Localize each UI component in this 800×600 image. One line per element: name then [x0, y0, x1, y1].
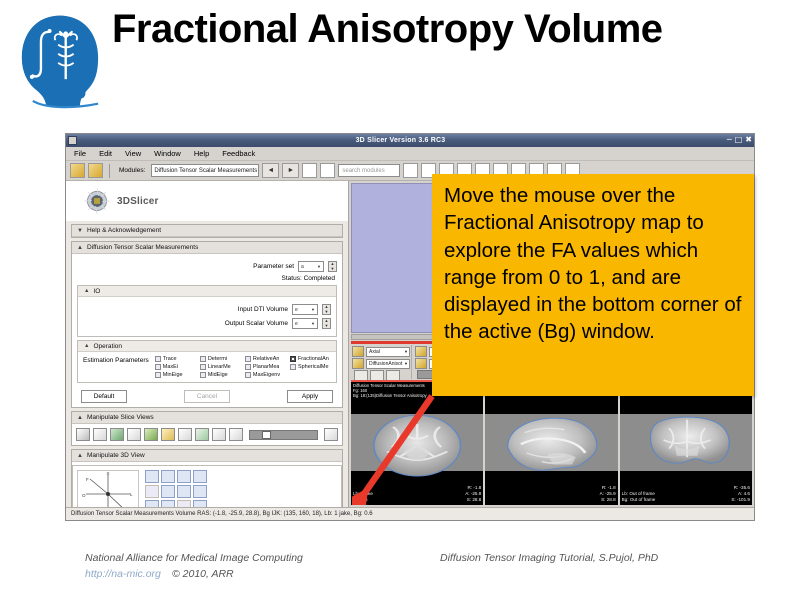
- system-menu-icon[interactable]: [68, 136, 77, 145]
- slice-background-layer-icon[interactable]: [352, 358, 364, 369]
- checkbox-label: MaxEigenv: [253, 372, 280, 378]
- parameter-set-value: a: [301, 264, 304, 270]
- slice-controller-left: Axial ▼ DiffusionAnisot ▼: [351, 345, 411, 379]
- checkbox-label: SphericalMe: [298, 364, 329, 370]
- menu-item-file[interactable]: File: [74, 149, 86, 158]
- apply-button[interactable]: Apply: [287, 390, 333, 403]
- checkbox-box-icon: [155, 372, 161, 378]
- parameter-set-selector[interactable]: a ▼: [298, 261, 324, 272]
- sagittal-overlay-bottom-right: R: -1.8 A: -25.9 S: 28.8: [600, 485, 616, 503]
- subpanel-operation: ▲ Operation Estimation Parameters Trace …: [77, 340, 337, 383]
- slice-compare-icon[interactable]: [195, 428, 209, 441]
- slice-orientation-value: Axial: [369, 349, 380, 355]
- module-selector-value: Diffusion Tensor Scalar Measurements: [154, 168, 257, 174]
- checkbox-linear-measure[interactable]: LinearMe: [200, 364, 241, 370]
- coronal-overlay-bottom-left: Lb: Out of frame Bg: Out of frame: [622, 491, 656, 503]
- slice-background-selector[interactable]: DiffusionAnisot ▼: [366, 359, 410, 369]
- axial-overlay-bottom-left: Lb: 1 jake Bg: 0.6: [353, 491, 373, 503]
- action-button-row: Default Cancel Apply: [77, 390, 337, 403]
- panel-manipulate-slice-views: ▲ Manipulate Slice Views: [71, 411, 343, 446]
- parameter-set-stepper[interactable]: ▲▼: [328, 261, 337, 272]
- input-dti-volume-row: Input DTI Volume e ▼ ▲▼: [83, 304, 331, 315]
- module-panel: 3DSlicer ▼ Help & Acknowledgement ▲ Diff…: [66, 181, 349, 507]
- chevron-down-icon: ▼: [317, 264, 323, 269]
- module-grid-icon[interactable]: [320, 163, 335, 178]
- menu-bar[interactable]: File Edit View Window Help Feedback: [66, 147, 754, 161]
- checkbox-box-icon: [245, 372, 251, 378]
- slicer-brand: 3DSlicer: [66, 181, 348, 221]
- panel-module-title: Diffusion Tensor Scalar Measurements: [87, 244, 198, 251]
- default-button[interactable]: Default: [81, 390, 127, 403]
- estimation-parameters-label: Estimation Parameters: [83, 356, 149, 364]
- subpanel-io-title: IO: [93, 288, 100, 295]
- rock-view-icon[interactable]: [177, 485, 191, 498]
- slider-thumb[interactable]: [262, 431, 271, 439]
- instruction-callout: Move the mouse over the Fractional Aniso…: [432, 174, 754, 396]
- cancel-button[interactable]: Cancel: [184, 390, 230, 403]
- chevron-up-icon: ▲: [77, 245, 83, 251]
- slice-layer-row-1: Axial ▼: [352, 346, 410, 357]
- checkbox-max-eigenvector[interactable]: MaxEigenv: [245, 372, 286, 378]
- panel-slice-views-header[interactable]: ▲ Manipulate Slice Views: [72, 412, 342, 424]
- sagittal-ras-s: S: 28.8: [600, 497, 616, 503]
- slice-label-opacity-icon[interactable]: [110, 428, 124, 441]
- panel-slice-views-title: Manipulate Slice Views: [87, 414, 154, 421]
- slice-foreground-icon[interactable]: [144, 428, 158, 441]
- orthographic-toggle-icon[interactable]: [177, 500, 191, 507]
- chevron-down-icon: ▼: [257, 168, 259, 174]
- menu-item-view[interactable]: View: [125, 149, 141, 158]
- checkbox-max-eigenvalue[interactable]: MaxEi: [155, 364, 196, 370]
- load-scene-icon[interactable]: [70, 163, 85, 178]
- checkbox-box-icon: [155, 356, 161, 362]
- chevron-down-icon: ▼: [311, 321, 317, 326]
- next-module-button[interactable]: ►: [282, 163, 299, 178]
- input-dti-volume-stepper[interactable]: ▲▼: [322, 304, 331, 315]
- chevron-down-icon: ▼: [404, 361, 409, 366]
- slide-canvas: Fractional Anisotropy Volume 3D Slicer V…: [0, 0, 800, 600]
- slide-footer: National Alliance for Medical Image Comp…: [0, 548, 800, 594]
- checkbox-relative-anisotropy[interactable]: RelativeAn: [245, 356, 286, 362]
- chevron-up-icon: ▲: [77, 415, 83, 421]
- menu-item-feedback[interactable]: Feedback: [222, 149, 255, 158]
- zoom-in-icon[interactable]: [193, 470, 207, 483]
- input-dti-volume-label: Input DTI Volume: [238, 306, 288, 313]
- chevron-down-icon: ▼: [404, 349, 409, 354]
- subpanel-operation-header[interactable]: ▲ Operation: [78, 341, 336, 352]
- subpanel-io: ▲ IO Input DTI Volume e ▼: [77, 285, 337, 337]
- toolbar-separator-1: [109, 164, 110, 178]
- slice-views-row: Diffusion Tensor Scalar Measurements Fg:…: [351, 380, 752, 505]
- volumes-module-icon[interactable]: [403, 163, 418, 178]
- estimation-checkbox-grid: Trace Determi RelativeAn FractionalAn Ma…: [155, 356, 331, 378]
- svg-text:F: F: [86, 477, 89, 482]
- maximize-icon[interactable]: □: [735, 135, 743, 144]
- checkbox-box-icon: [200, 356, 206, 362]
- checkbox-checked-icon: [290, 356, 296, 362]
- chevron-down-icon: ▼: [77, 228, 83, 234]
- checkbox-label: MidEige: [208, 372, 228, 378]
- parameter-set-label: Parameter set: [253, 263, 294, 270]
- slice-opacity-slider[interactable]: [249, 430, 318, 440]
- output-scalar-volume-stepper[interactable]: ▲▼: [322, 318, 331, 329]
- search-modules-input[interactable]: search modules: [338, 164, 400, 177]
- previous-module-button[interactable]: ◄: [262, 163, 279, 178]
- slice-fieldofview-icon[interactable]: [93, 428, 107, 441]
- output-scalar-volume-value: e: [295, 321, 298, 327]
- zoom-out-icon[interactable]: [161, 500, 175, 507]
- checkbox-planar-measure[interactable]: PlanarMea: [245, 364, 286, 370]
- panel-module-content: Parameter set a ▼ ▲▼ Status: Completed: [72, 254, 342, 407]
- checkbox-box-icon: [155, 364, 161, 370]
- checkbox-trace[interactable]: Trace: [155, 356, 196, 362]
- window-titlebar: 3D Slicer Version 3.6 RC3 ─ □ ✖: [66, 134, 754, 147]
- axial-bg-value: Bg: 0.6: [353, 497, 373, 503]
- panel-help-header[interactable]: ▼ Help & Acknowledgement: [72, 225, 342, 237]
- menu-item-help[interactable]: Help: [194, 149, 209, 158]
- menu-item-window[interactable]: Window: [154, 149, 181, 158]
- chevron-up-icon: ▲: [77, 453, 83, 459]
- checkbox-box-icon: [290, 364, 296, 370]
- checkbox-label: MaxEi: [163, 364, 178, 370]
- input-dti-volume-value: e: [295, 307, 298, 313]
- panel-3d-view-title: Manipulate 3D View: [87, 452, 145, 459]
- application-statusbar: Diffusion Tensor Scalar Measurements Vol…: [66, 507, 754, 520]
- footer-organization: National Alliance for Medical Image Comp…: [85, 552, 303, 564]
- footer-url[interactable]: http://na-mic.org: [85, 568, 161, 580]
- checkbox-box-icon: [200, 364, 206, 370]
- checkbox-box-icon: [245, 364, 251, 370]
- checkbox-label: MinEige: [163, 372, 183, 378]
- parameter-set-row: Parameter set a ▼ ▲▼: [77, 261, 337, 272]
- fiducial-icon[interactable]: [193, 500, 207, 507]
- slice-snapshot-icon[interactable]: [229, 428, 243, 441]
- checkbox-label: LinearMe: [208, 364, 231, 370]
- checkbox-label: FractionalAn: [298, 356, 329, 362]
- status-value: Completed: [304, 275, 335, 282]
- chevron-up-icon: ▲: [84, 288, 89, 294]
- checkbox-determinant[interactable]: Determi: [200, 356, 241, 362]
- checkbox-label: Determi: [208, 356, 227, 362]
- close-icon[interactable]: ✖: [745, 135, 752, 144]
- view-3d-controls: S F L O I A: [72, 465, 342, 507]
- coronal-bg-value: Bg: Out of frame: [622, 497, 656, 503]
- axial-overlay-bottom-right: R: -1.8 A: -25.9 S: 28.8: [465, 485, 481, 503]
- slice-outline-icon[interactable]: [127, 428, 141, 441]
- checkbox-box-icon: [200, 372, 206, 378]
- estimation-parameters-group: Estimation Parameters Trace Determi Rela…: [83, 356, 331, 378]
- checkbox-fractional-anisotropy[interactable]: FractionalAn: [290, 356, 331, 362]
- subpanel-io-header[interactable]: ▲ IO: [78, 286, 336, 297]
- module-selector[interactable]: Diffusion Tensor Scalar Measurements ▼: [151, 164, 259, 177]
- checkbox-box-icon: [245, 356, 251, 362]
- checkbox-label: PlanarMea: [253, 364, 280, 370]
- panel-help-title: Help & Acknowledgement: [87, 227, 161, 234]
- footer-tutorial: Diffusion Tensor Imaging Tutorial, S.Puj…: [440, 552, 658, 564]
- input-dti-volume-selector[interactable]: e ▼: [292, 304, 318, 315]
- slice-view-coronal[interactable]: Lb: Out of frame Bg: Out of frame R: -35…: [620, 380, 752, 505]
- slice-visibility-icon[interactable]: [76, 428, 90, 441]
- slice-background-icon[interactable]: [161, 428, 175, 441]
- page-title: Fractional Anisotropy Volume: [112, 8, 752, 51]
- axial-brain-image: [351, 382, 483, 505]
- center-view-icon[interactable]: [161, 470, 175, 483]
- coronal-overlay-bottom-right: R: -35.6 A: 4.6 S: -101.9: [731, 485, 750, 503]
- chevron-down-icon: ▼: [311, 307, 317, 312]
- module-status: Status: Completed: [77, 275, 335, 282]
- axes-icon: S F L O I A: [78, 471, 138, 507]
- stereo-toggle-icon[interactable]: [145, 485, 159, 498]
- output-scalar-volume-row: Output Scalar Volume e ▼ ▲▼: [83, 318, 331, 329]
- axial-ras-s: S: 28.8: [465, 497, 481, 503]
- checkbox-min-eigenvalue[interactable]: MinEige: [155, 372, 196, 378]
- panel-dt-scalar-measurements: ▲ Diffusion Tensor Scalar Measurements P…: [71, 241, 343, 408]
- svg-text:S: S: [106, 471, 109, 476]
- slide-header: Fractional Anisotropy Volume: [0, 0, 800, 122]
- modules-label: Modules:: [119, 167, 145, 174]
- checkbox-spherical-measure[interactable]: SphericalMe: [290, 364, 331, 370]
- screenshot-icon[interactable]: [145, 500, 159, 507]
- panel-module-header[interactable]: ▲ Diffusion Tensor Scalar Measurements: [72, 242, 342, 254]
- panel-help-acknowledgement[interactable]: ▼ Help & Acknowledgement: [71, 224, 343, 238]
- coronal-ras-s: S: -101.9: [731, 497, 750, 503]
- module-history-icon[interactable]: [302, 163, 317, 178]
- save-scene-icon[interactable]: [88, 163, 103, 178]
- slicer-brand-text: 3DSlicer: [117, 196, 159, 207]
- slice-view-sagittal[interactable]: R: -1.8 A: -25.9 S: 28.8: [485, 380, 617, 505]
- slice-background-value: DiffusionAnisot: [369, 361, 402, 367]
- checkbox-mid-eigenvalue[interactable]: MidEige: [200, 372, 241, 378]
- checkbox-label: RelativeAn: [253, 356, 280, 362]
- slice-link-icon[interactable]: [212, 428, 226, 441]
- svg-text:L: L: [130, 492, 133, 497]
- look-from-icon[interactable]: [177, 470, 191, 483]
- panel-manipulate-3d-view: ▲ Manipulate 3D View: [71, 449, 343, 507]
- spin-view-icon[interactable]: [161, 485, 175, 498]
- subpanel-io-content: Input DTI Volume e ▼ ▲▼ Output Scalar Vo…: [78, 297, 336, 336]
- view-3d-button-grid[interactable]: [145, 470, 207, 507]
- orientation-axes-widget[interactable]: S F L O I A: [77, 470, 139, 507]
- box-visibility-icon[interactable]: [193, 485, 207, 498]
- footer-copyright: © 2010, ARR: [172, 568, 234, 580]
- slice-crosshair-icon[interactable]: [178, 428, 192, 441]
- slicer-logo-icon: [82, 187, 112, 215]
- minimize-icon[interactable]: ─: [727, 135, 732, 144]
- svg-text:O: O: [82, 493, 86, 498]
- sagittal-brain-image: [485, 382, 617, 505]
- search-input-placeholder: search modules: [342, 168, 384, 174]
- slice-view-toolbar[interactable]: [72, 424, 342, 445]
- slice-orientation-icon[interactable]: [352, 346, 364, 357]
- output-scalar-volume-selector[interactable]: e ▼: [292, 318, 318, 329]
- namic-head-caduceus-logo: [14, 12, 106, 110]
- status-label: Status:: [282, 275, 302, 282]
- chevron-up-icon: ▲: [84, 343, 89, 349]
- slice-label-layer-icon[interactable]: [415, 358, 427, 369]
- slice-layer-row-2: DiffusionAnisot ▼: [352, 358, 410, 369]
- checkbox-label: Trace: [163, 356, 177, 362]
- slice-foreground-layer-icon[interactable]: [415, 346, 427, 357]
- slice-orientation-selector[interactable]: Axial ▼: [366, 347, 410, 357]
- menu-item-edit[interactable]: Edit: [99, 149, 112, 158]
- output-scalar-volume-label: Output Scalar Volume: [225, 320, 288, 327]
- subpanel-operation-content: Estimation Parameters Trace Determi Rela…: [78, 352, 336, 382]
- panel-3d-view-header[interactable]: ▲ Manipulate 3D View: [72, 450, 342, 462]
- window-title: 3D Slicer Version 3.6 RC3: [77, 137, 754, 144]
- slice-settings-icon[interactable]: [324, 428, 338, 441]
- slice-view-axial[interactable]: Diffusion Tensor Scalar Measurements Fg:…: [351, 380, 483, 505]
- rotate-view-icon[interactable]: [145, 470, 159, 483]
- subpanel-operation-title: Operation: [93, 343, 122, 350]
- window-controls[interactable]: ─ □ ✖: [727, 135, 752, 144]
